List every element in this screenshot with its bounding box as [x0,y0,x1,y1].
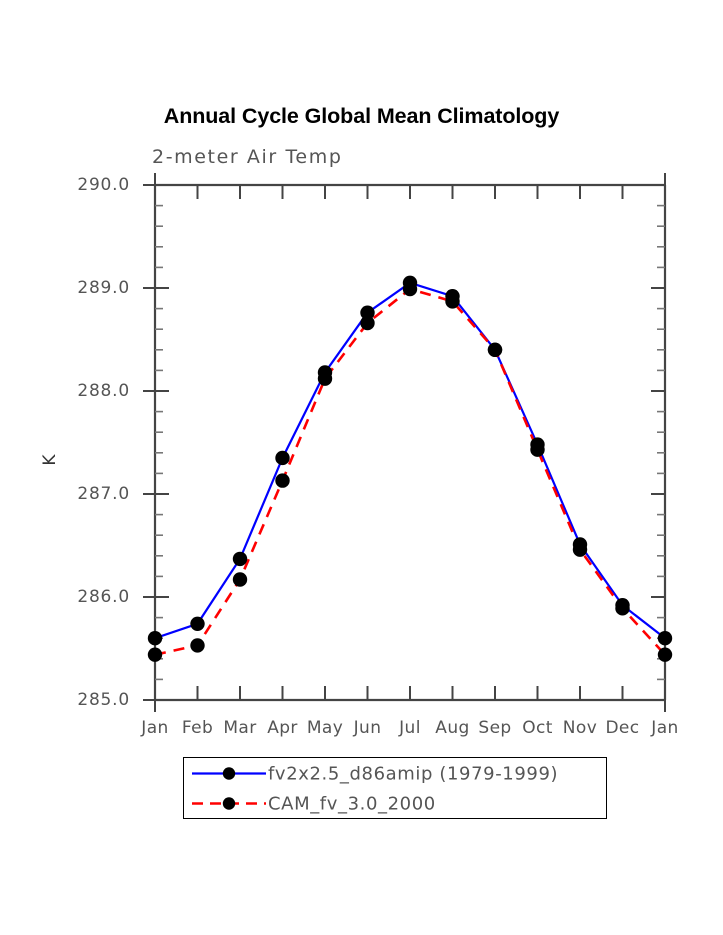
data-point-marker [658,631,672,645]
y-tick-label: 286.0 [38,587,130,607]
data-point-marker [360,316,374,330]
data-point-marker [148,631,162,645]
series-line [155,289,665,655]
data-point-marker [275,473,289,487]
x-tick-label: Jan [635,718,695,738]
legend-item-1[interactable]: CAM_fv_3.0_2000 [184,788,606,819]
data-point-marker [658,647,672,661]
legend: fv2x2.5_d86amip (1979-1999) CAM_fv_3.0_2… [183,757,607,819]
data-point-marker [445,294,459,308]
legend-swatch-series2 [190,788,268,819]
axis-ticks [143,173,665,712]
data-point-marker [190,638,204,652]
data-point-marker [233,572,247,586]
data-point-marker [275,451,289,465]
data-point-marker [530,443,544,457]
y-tick-label: 289.0 [38,278,130,298]
data-point-marker [488,343,502,357]
series-line [155,283,665,638]
data-point-marker [403,282,417,296]
legend-label-series2: CAM_fv_3.0_2000 [268,793,436,814]
chart-page: Annual Cycle Global Mean Climatology 2-m… [0,0,723,935]
series-lines [155,283,665,655]
data-point-marker [573,542,587,556]
data-point-marker [615,601,629,615]
legend-swatch-series1 [190,758,268,789]
data-point-marker [318,371,332,385]
data-point-marker [233,552,247,566]
y-tick-label: 287.0 [38,484,130,504]
legend-label-series1: fv2x2.5_d86amip (1979-1999) [268,763,558,784]
y-tick-label: 285.0 [38,690,130,710]
data-point-marker [190,617,204,631]
data-point-marker [148,647,162,661]
axis-frame [155,185,665,700]
y-tick-label: 290.0 [38,175,130,195]
series-markers [148,276,672,662]
legend-item-0[interactable]: fv2x2.5_d86amip (1979-1999) [184,758,606,789]
y-tick-label: 288.0 [38,381,130,401]
